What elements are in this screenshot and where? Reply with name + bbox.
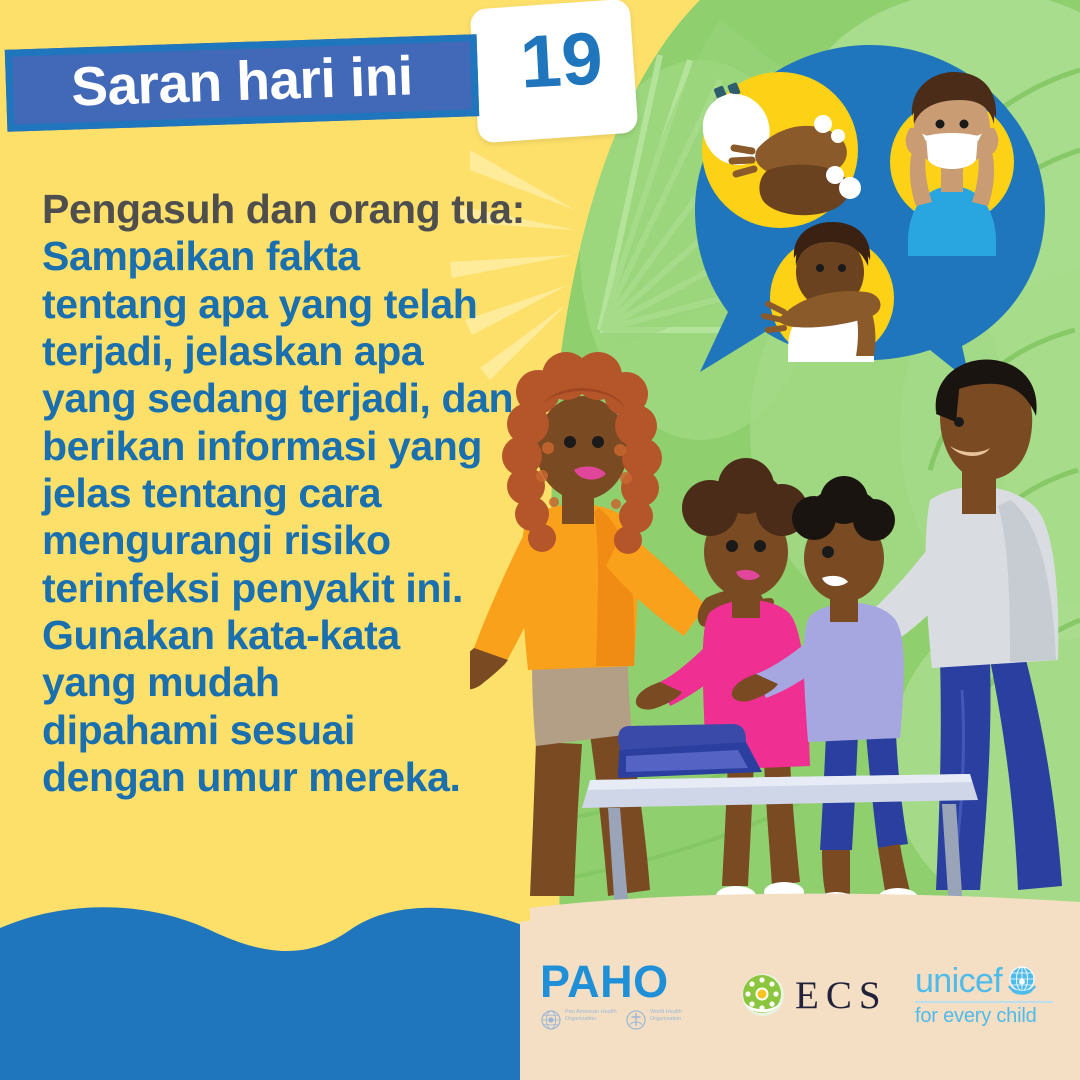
body-line: terjadi, jelaskan apa xyxy=(42,328,562,375)
paho-seal-who: World Health Organization xyxy=(625,1009,702,1031)
day-number-card: 19 xyxy=(470,0,639,143)
partner-logos: PAHO Pan American Health Organization xyxy=(540,950,1070,1040)
paho-globe-icon xyxy=(540,1009,562,1031)
unicef-divider xyxy=(915,1001,1053,1003)
body-line: Gunakan kata-kata xyxy=(42,612,562,659)
unicef-tagline: for every child xyxy=(915,1006,1065,1026)
banner-label: Saran hari ini xyxy=(70,48,413,114)
day-number: 19 xyxy=(518,21,604,99)
ecs-sun-icon xyxy=(740,972,786,1018)
unicef-logo: unicef for every child xyxy=(915,964,1065,1026)
paho-logo: PAHO Pan American Health Organization xyxy=(540,959,740,1031)
tip-of-the-day-banner: Saran hari ini xyxy=(5,34,479,132)
body-line: berikan informasi yang xyxy=(42,423,562,470)
body-line: mengurangi risiko xyxy=(42,517,562,564)
body-line: dipahami sesuai xyxy=(42,707,562,754)
paho-seal-pan-american: Pan American Health Organization xyxy=(540,1009,617,1031)
body-line: jelas tentang cara xyxy=(42,470,562,517)
body-line: yang mudah xyxy=(42,659,562,706)
body-line: tentang apa yang telah xyxy=(42,281,562,328)
paho-subtext-pan-american: Pan American Health Organization xyxy=(565,1009,617,1024)
paho-wordmark: PAHO xyxy=(540,959,740,1004)
unicef-wordmark: unicef xyxy=(915,964,1002,998)
blue-wave-shape xyxy=(0,880,540,1080)
body-copy: Pengasuh dan orang tua: Sampaikan fakta … xyxy=(42,186,562,801)
who-emblem-icon xyxy=(625,1009,647,1031)
ecs-logo: ECS xyxy=(740,972,915,1018)
poster-canvas: 19 Saran hari ini Pengasuh dan orang tua… xyxy=(0,0,1080,1080)
body-lead-line: Pengasuh dan orang tua: xyxy=(42,186,562,233)
body-line: terinfeksi penyakit ini. xyxy=(42,565,562,612)
body-line: Sampaikan fakta xyxy=(42,233,562,280)
ecs-wordmark: ECS xyxy=(795,976,888,1015)
paho-subtext-who: World Health Organization xyxy=(650,1009,702,1024)
body-line: yang sedang terjadi, dan xyxy=(42,375,562,422)
unicef-emblem-icon xyxy=(1005,964,1039,998)
body-line: dengan umur mereka. xyxy=(42,754,562,801)
